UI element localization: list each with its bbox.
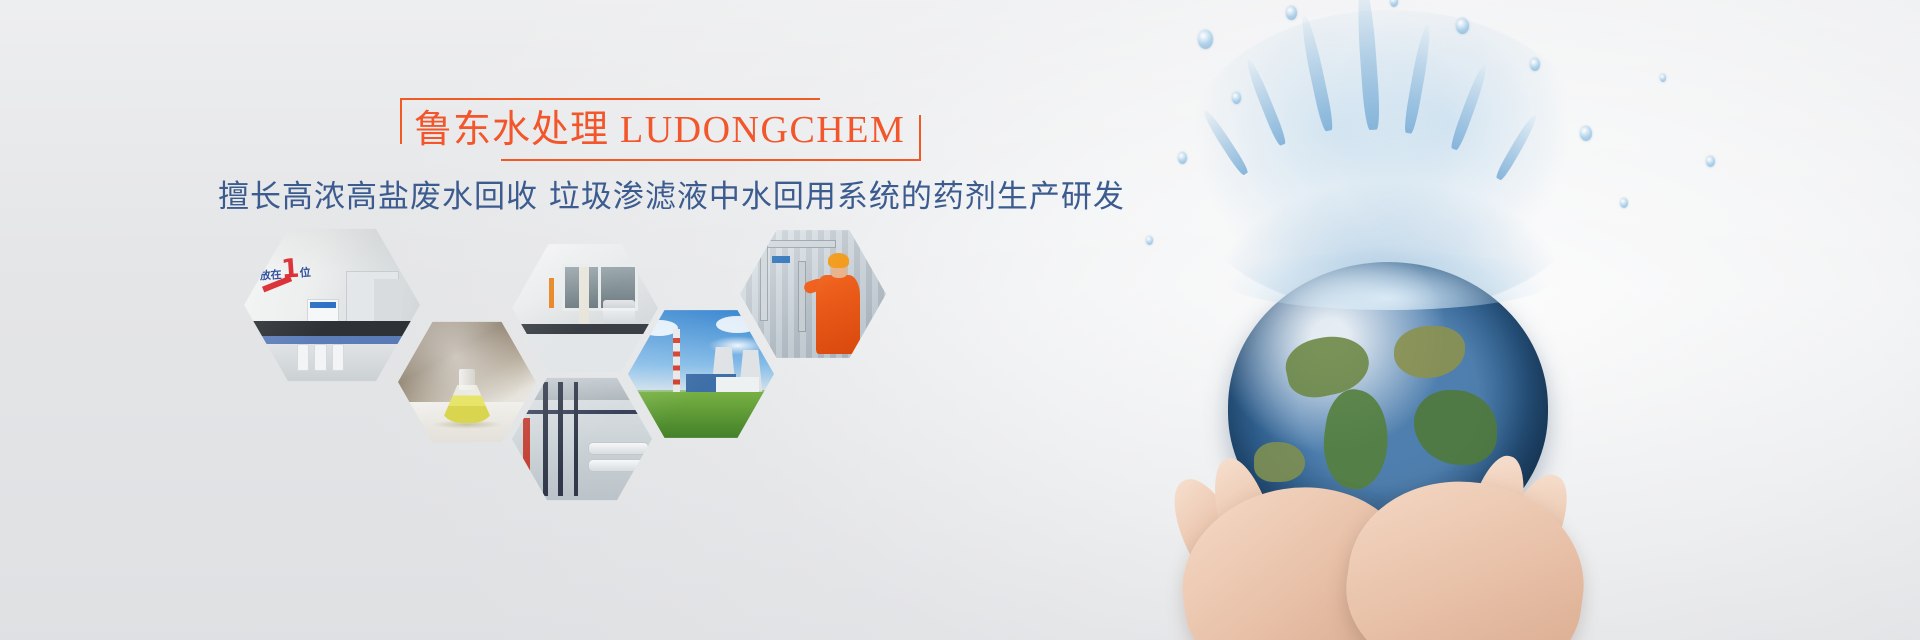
photo-sheen <box>740 226 886 362</box>
photo-sheen <box>628 306 774 442</box>
hex-photo-lab-bench[interactable] <box>512 240 658 376</box>
landmass <box>1394 326 1464 378</box>
title-chinese: 鲁东水处理 <box>414 109 609 151</box>
cupped-hands <box>1176 430 1608 640</box>
hero-banner: 鲁东水处理 LUDONGCHEM 擅长高浓高盐废水回收 垃圾渗滤液中水回用系统的… <box>0 0 1920 640</box>
hex-photo-power-plant[interactable] <box>628 306 774 442</box>
page-subtitle: 擅长高浓高盐废水回收 垃圾渗滤液中水回用系统的药剂生产研发 <box>218 177 1008 217</box>
photo-sheen <box>512 240 658 376</box>
hex-photo-membrane-equipment[interactable] <box>512 374 652 504</box>
photo-sheen <box>398 318 536 446</box>
water-droplet <box>1456 18 1469 34</box>
water-droplet <box>1146 236 1153 245</box>
water-droplet <box>1198 30 1213 49</box>
water-droplet <box>1390 0 1398 7</box>
globe-in-hands <box>1228 262 1548 562</box>
hex-photo-site-worker[interactable] <box>740 226 886 362</box>
photo-sheen <box>244 224 420 386</box>
headline-block: 鲁东水处理 LUDONGCHEM 擅长高浓高盐废水回收 垃圾渗滤液中水回用系统的… <box>218 98 1008 217</box>
water-droplet <box>1286 6 1297 20</box>
water-droplet <box>1580 126 1592 141</box>
title-english <box>609 109 620 151</box>
photo-sheen <box>512 374 652 504</box>
water-droplet <box>1178 152 1187 164</box>
hex-photo-reagent-flask[interactable] <box>398 318 536 446</box>
title-english-text: LUDONGCHEM <box>620 109 905 151</box>
water-droplet <box>1706 156 1715 167</box>
title-bracket-frame: 鲁东水处理 LUDONGCHEM <box>400 98 921 161</box>
globe-water-surface <box>1224 252 1552 310</box>
page-title: 鲁东水处理 LUDONGCHEM <box>414 108 905 152</box>
water-droplet <box>1620 198 1628 208</box>
water-splash-globe-artwork <box>1060 0 1920 640</box>
water-droplet <box>1232 92 1241 104</box>
water-droplet <box>1530 58 1540 71</box>
water-droplet <box>1660 74 1666 82</box>
hexagon-photo-cluster: 放在1位 <box>240 218 960 538</box>
hex-photo-lab-overview[interactable]: 放在1位 <box>244 224 420 386</box>
